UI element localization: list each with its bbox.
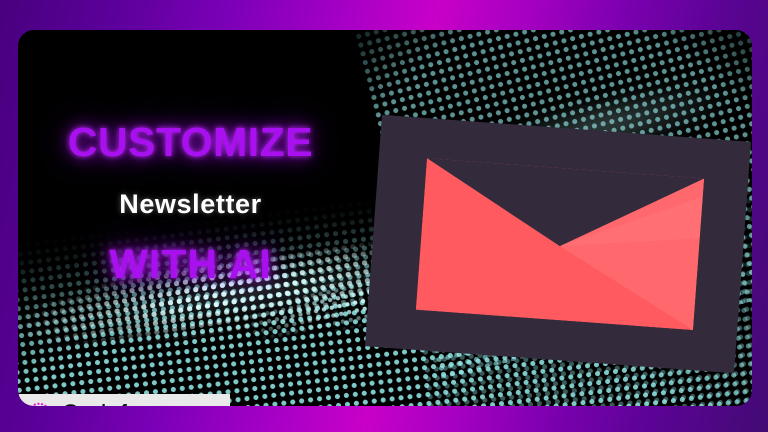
chevron-left-dotted-circle-icon [26, 402, 52, 407]
headline-group: CUSTOMIZE Newsletter WITH AI [18, 122, 363, 285]
headline-line-2: Newsletter [18, 191, 363, 218]
envelope-icon [416, 158, 704, 330]
stage-area: CUSTOMIZE Newsletter WITH AI Codeforce [18, 30, 752, 406]
brand-name-label: Codeforce [61, 402, 175, 406]
email-card [365, 115, 751, 373]
thumbnail-canvas: CUSTOMIZE Newsletter WITH AI Codeforce [0, 0, 768, 432]
headline-line-3: WITH AI [18, 244, 363, 285]
brand-badge[interactable]: Codeforce [18, 394, 230, 406]
headline-line-1: CUSTOMIZE [18, 122, 363, 163]
